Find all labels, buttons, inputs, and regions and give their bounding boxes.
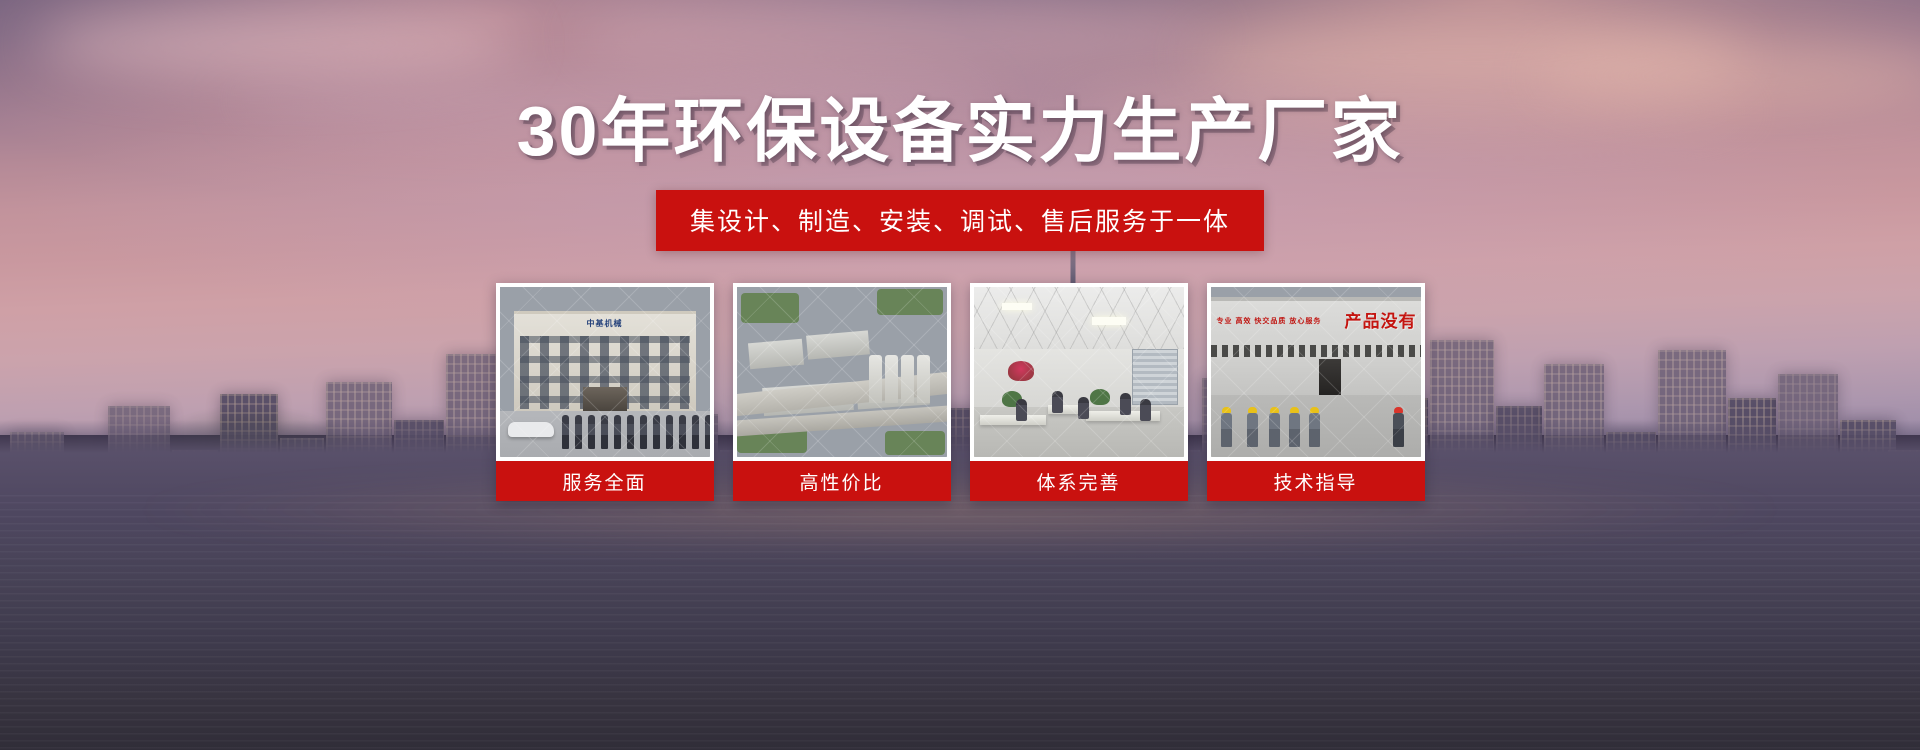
company-office-building-photo: 中基机械 [500,287,710,457]
window-blinds-shape [1132,349,1178,405]
subtitle-badge: 集设计、制造、安装、调试、售后服务于一体 [656,190,1264,251]
hero-banner: 30年环保设备实力生产厂家 集设计、制造、安装、调试、售后服务于一体 中基机械 [0,0,1920,750]
factory-workshop-workers-photo: 产品没有 专业 高效 快交品质 放心服务 [1211,287,1421,457]
feature-card-list: 中基机械 服务全面 [0,283,1920,501]
page-title: 30年环保设备实力生产厂家 [0,96,1920,166]
feature-card-value[interactable]: 高性价比 [733,283,951,501]
staff-row-shape [562,415,710,449]
factory-wall-slogan: 专业 高效 快交品质 放心服务 [1217,317,1322,328]
aerial-production-plant-photo [737,287,947,457]
feature-card-system[interactable]: 体系完善 [970,283,1188,501]
feature-card-label: 体系完善 [970,461,1188,501]
feature-card-guidance[interactable]: 产品没有 专业 高效 快交品质 放心服务 技术指导 [1207,283,1425,501]
feature-card-label: 高性价比 [733,461,951,501]
office-interior-photo [974,287,1184,457]
feature-card-label: 技术指导 [1207,461,1425,501]
feature-card-service[interactable]: 中基机械 服务全面 [496,283,714,501]
feature-card-label: 服务全面 [496,461,714,501]
factory-banner-text: 产品没有 [1345,307,1417,332]
wall-emblem-icon [1008,361,1034,381]
parked-car-shape [508,422,554,437]
building-sign-text: 中基机械 [587,318,623,329]
